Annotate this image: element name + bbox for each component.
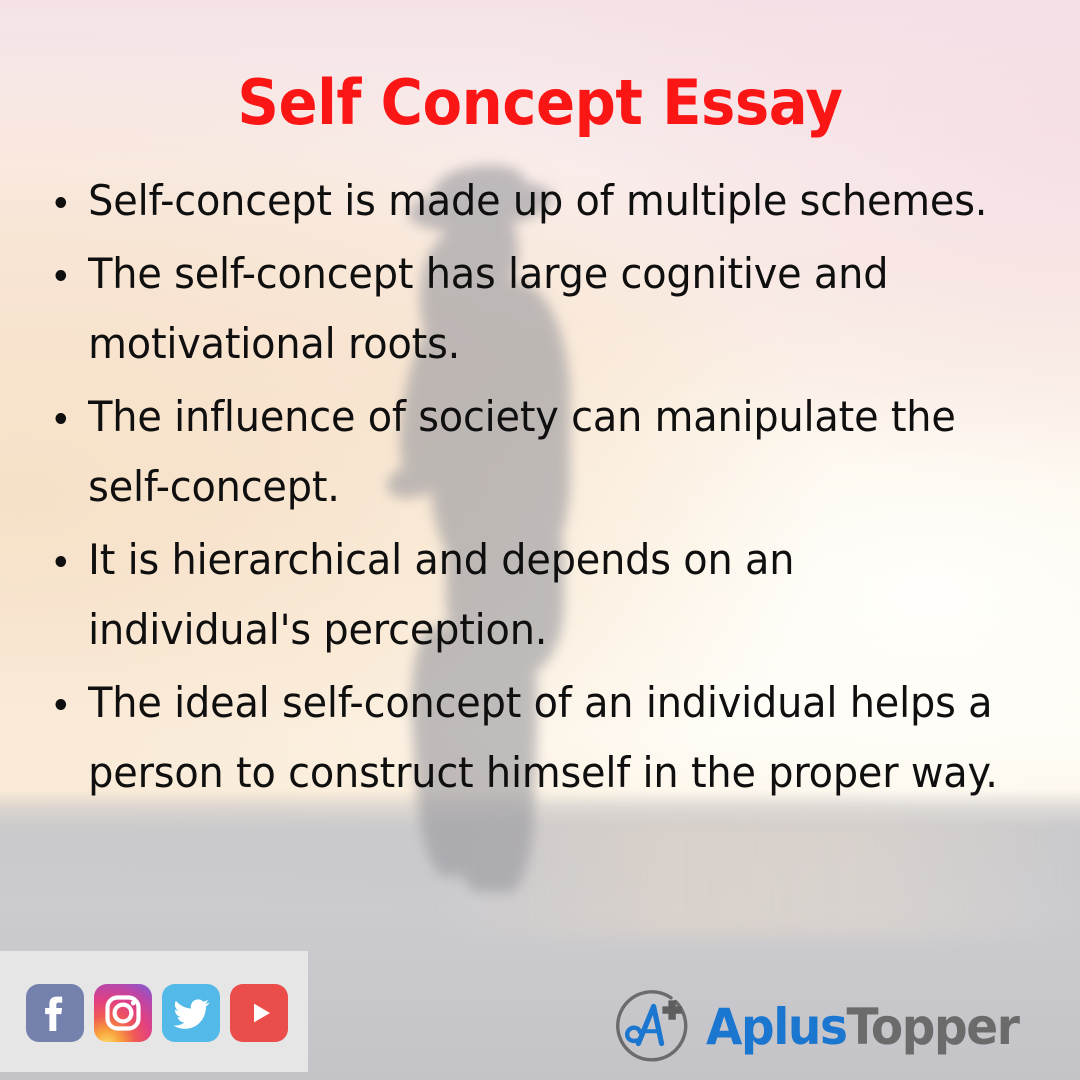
twitter-icon[interactable] [162, 984, 220, 1042]
brand-name-second: Topper [846, 998, 1018, 1056]
bullet-dot-icon [56, 556, 67, 567]
bullet-dot-icon [56, 413, 67, 424]
list-item-text: The influence of society can manipulate … [88, 392, 956, 511]
bullet-dot-icon [56, 197, 67, 208]
brand-name-first: Aplus [706, 998, 847, 1056]
bullet-dot-icon [56, 270, 67, 281]
social-icons-group [26, 984, 288, 1042]
youtube-icon[interactable] [230, 984, 288, 1042]
list-item: It is hierarchical and depends on an ind… [44, 525, 1010, 665]
list-item-text: It is hierarchical and depends on an ind… [88, 535, 794, 654]
aplustopper-mark-icon [612, 984, 698, 1070]
list-item: The ideal self-concept of an individual … [44, 668, 1010, 808]
bullet-dot-icon [56, 699, 67, 710]
list-item: The self-concept has large cognitive and… [44, 239, 1010, 379]
brand-wordmark: AplusTopper [706, 1002, 1019, 1052]
list-item-text: The self-concept has large cognitive and… [88, 249, 888, 368]
list-item-text: The ideal self-concept of an individual … [88, 678, 998, 797]
list-item-text: Self-concept is made up of multiple sche… [88, 176, 987, 225]
brand-logo[interactable]: AplusTopper [612, 984, 1038, 1070]
facebook-icon[interactable] [26, 984, 84, 1042]
list-item: The influence of society can manipulate … [44, 382, 1010, 522]
social-links-bar [0, 951, 308, 1072]
instagram-icon[interactable] [94, 984, 152, 1042]
bullet-list: Self-concept is made up of multiple sche… [44, 166, 1050, 811]
list-item: Self-concept is made up of multiple sche… [44, 166, 1010, 236]
page-title: Self Concept Essay [38, 72, 1042, 134]
poster-canvas: Self Concept Essay Self-concept is made … [0, 0, 1080, 1080]
